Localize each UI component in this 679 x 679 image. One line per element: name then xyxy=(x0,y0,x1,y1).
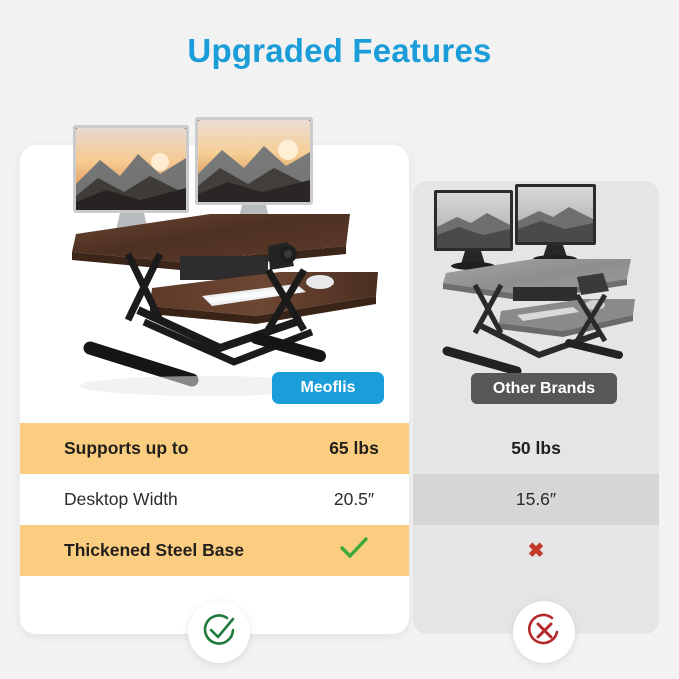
brand-badge-ours: Meoflis xyxy=(272,372,384,404)
feature-value-ours: check xyxy=(294,536,414,565)
page-title: Upgraded Features xyxy=(0,32,679,70)
table-row: ✖ cross xyxy=(413,525,659,576)
table-row: Desktop Width 20.5″ xyxy=(20,474,409,525)
table-row: Thickened Steel Base check xyxy=(20,525,409,576)
product-image-theirs xyxy=(413,165,659,380)
comparison-rows-ours: Supports up to 65 lbs Desktop Width 20.5… xyxy=(20,423,409,576)
feature-value-ours: 20.5″ xyxy=(294,489,414,510)
circle-cross-icon xyxy=(524,610,564,655)
verdict-badge-ours xyxy=(188,601,250,663)
product-image-ours xyxy=(20,110,409,410)
infographic-page: Upgraded Features xyxy=(0,0,679,679)
feature-label: Supports up to xyxy=(64,438,188,459)
table-row: Supports up to 65 lbs xyxy=(20,423,409,474)
verdict-badge-theirs xyxy=(513,601,575,663)
feature-label: Thickened Steel Base xyxy=(64,540,244,561)
circle-check-icon xyxy=(199,610,239,655)
feature-label: Desktop Width xyxy=(64,489,178,510)
brand-badge-theirs: Other Brands xyxy=(471,373,617,404)
check-icon xyxy=(339,536,369,560)
table-row: 50 lbs xyxy=(413,423,659,474)
cross-icon: ✖ xyxy=(528,538,545,563)
table-row: 15.6″ xyxy=(413,474,659,525)
comparison-rows-theirs: 50 lbs 15.6″ ✖ cross xyxy=(413,423,659,576)
feature-value-ours: 65 lbs xyxy=(294,438,414,459)
